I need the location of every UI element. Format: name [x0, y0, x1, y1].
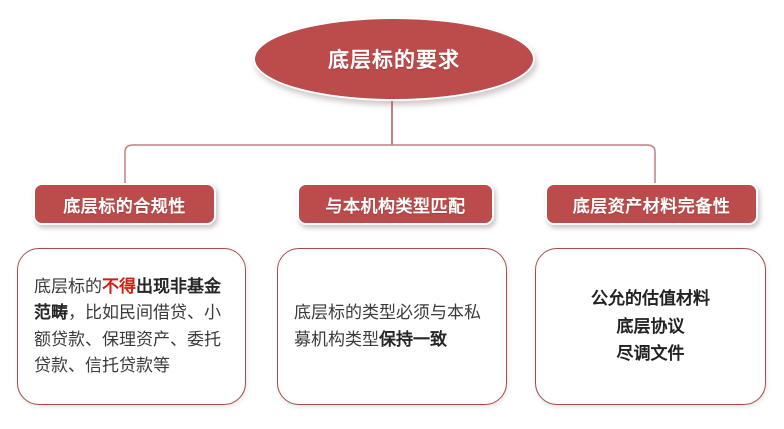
branch-header-3: 底层资产材料完备性	[545, 183, 758, 225]
root-node-label: 底层标的要求	[328, 44, 460, 74]
text-segment: 保持一致	[379, 330, 447, 349]
diagram-canvas: 底层标的要求 底层标的合规性 与本机构类型匹配 底层资产材料完备性 底层标的不得…	[0, 0, 784, 429]
text-line: 尽调文件	[550, 340, 751, 368]
branch-header-2: 与本机构类型匹配	[297, 183, 494, 225]
branch-body-2-text: 底层标的类型必须与本私募机构类型保持一致	[278, 300, 506, 353]
branch-body-3: 公允的估值材料底层协议尽调文件	[535, 248, 766, 405]
text-line: 底层协议	[550, 313, 751, 341]
branch-body-1: 底层标的不得出现非基金范畴，比如民间借贷、小额贷款、保理资产、委托贷款、信托贷款…	[17, 248, 246, 405]
branch-header-1: 底层标的合规性	[33, 183, 216, 225]
branch-header-1-label: 底层标的合规性	[63, 192, 186, 217]
branch-header-3-label: 底层资产材料完备性	[573, 192, 731, 217]
branch-body-2: 底层标的类型必须与本私募机构类型保持一致	[277, 248, 507, 405]
branch-header-2-label: 与本机构类型匹配	[326, 192, 466, 217]
root-node-ellipse: 底层标的要求	[253, 17, 535, 101]
branch-body-3-text: 公允的估值材料底层协议尽调文件	[536, 285, 765, 368]
text-segment: 底层标的	[34, 277, 102, 296]
branch-body-1-text: 底层标的不得出现非基金范畴，比如民间借贷、小额贷款、保理资产、委托贷款、信托贷款…	[18, 274, 245, 379]
text-segment: 不得	[102, 277, 136, 296]
text-line: 公允的估值材料	[550, 285, 751, 313]
